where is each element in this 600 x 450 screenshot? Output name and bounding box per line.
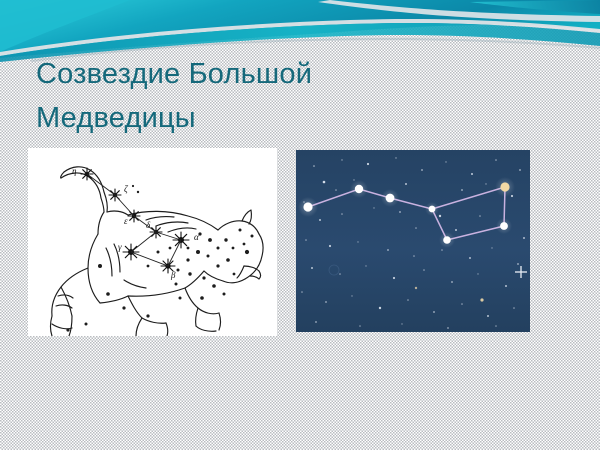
- ursa-major-engraving-image: η ζ ε δ α γ β: [28, 148, 277, 336]
- big-dipper-svg: [296, 150, 530, 332]
- bear-drawing: η ζ ε δ α γ β: [28, 148, 277, 336]
- slide-title: Созвездие Большой Медведицы: [36, 52, 486, 140]
- label-alpha: γ: [118, 242, 122, 252]
- label-epsilon: ε: [124, 216, 128, 226]
- label-gamma: α: [194, 232, 199, 242]
- presentation-slide: Созвездие Большой Медведицы: [0, 0, 600, 450]
- label-eta: η: [72, 166, 77, 176]
- label-beta: β: [170, 270, 176, 280]
- big-dipper-chart-image: [296, 150, 530, 332]
